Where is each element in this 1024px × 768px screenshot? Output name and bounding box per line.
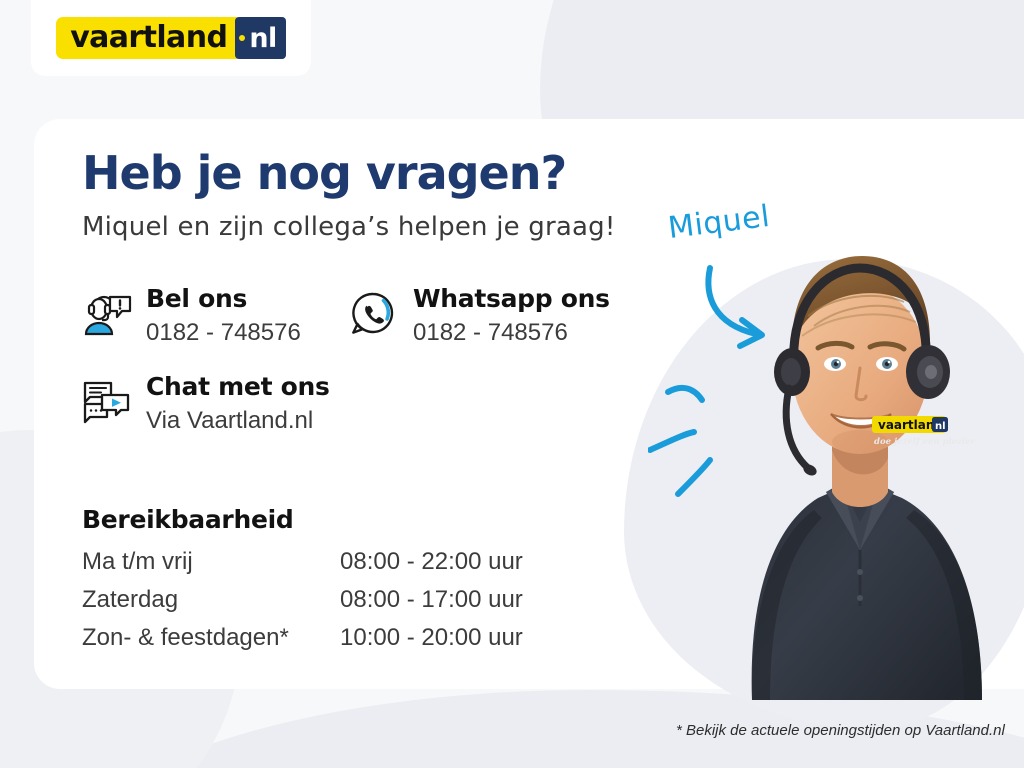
- contact-text-call: Bel ons 0182 - 748576: [146, 285, 301, 348]
- svg-text:nl: nl: [935, 421, 946, 432]
- contact-text-whatsapp: Whatsapp ons 0182 - 748576: [413, 285, 610, 348]
- logo-tld: nl: [249, 25, 276, 52]
- headset-person-alert-icon: [80, 287, 132, 339]
- logo-lockup: vaartland nl: [56, 17, 286, 59]
- contact-value-whatsapp: 0182 - 748576: [413, 317, 610, 348]
- logo-navy-plate: nl: [235, 17, 285, 59]
- availability-hours: 10:00 - 20:00 uur: [340, 624, 523, 662]
- table-row: Zaterdag 08:00 - 17:00 uur: [82, 586, 523, 624]
- speed-lines-icon: [648, 362, 758, 502]
- brand-logo[interactable]: vaartland nl: [31, 0, 311, 76]
- availability-day: Ma t/m vrij: [82, 548, 340, 586]
- svg-text:doe jezelf een plezier: doe jezelf een plezier: [874, 437, 976, 447]
- page-title: Heb je nog vragen?: [82, 150, 566, 196]
- logo-wordmark: vaartland: [70, 23, 227, 53]
- footnote-text: * Bekijk de actuele openingstijden op Va…: [676, 722, 1005, 739]
- logo-dot-icon: [239, 35, 245, 41]
- contact-text-chat: Chat met ons Via Vaartland.nl: [146, 373, 330, 436]
- contact-title-chat: Chat met ons: [146, 373, 330, 402]
- chat-bubbles-send-icon: [80, 375, 132, 427]
- availability-title: Bereikbaarheid: [82, 505, 293, 534]
- contact-item-whatsapp[interactable]: Whatsapp ons 0182 - 748576: [347, 285, 610, 348]
- contact-title-whatsapp: Whatsapp ons: [413, 285, 610, 314]
- availability-table: Ma t/m vrij 08:00 - 22:00 uur Zaterdag 0…: [82, 548, 523, 661]
- table-row: Zon- & feestdagen* 10:00 - 20:00 uur: [82, 624, 523, 662]
- availability-hours: 08:00 - 22:00 uur: [340, 548, 523, 586]
- curved-arrow-right-icon: [700, 262, 810, 352]
- logo-yellow-plate: vaartland: [56, 17, 237, 59]
- contact-item-chat[interactable]: Chat met ons Via Vaartland.nl: [80, 373, 330, 436]
- availability-day: Zaterdag: [82, 586, 340, 624]
- contact-item-call[interactable]: Bel ons 0182 - 748576: [80, 285, 301, 348]
- availability-hours: 08:00 - 17:00 uur: [340, 586, 523, 624]
- whatsapp-phone-bubble-icon: [347, 287, 399, 339]
- contact-value-chat: Via Vaartland.nl: [146, 405, 330, 436]
- promo-banner: vaartland nl Heb je nog vragen? Miquel e…: [0, 0, 1024, 768]
- page-subtitle: Miquel en zijn collega’s helpen je graag…: [82, 212, 615, 243]
- contact-value-call: 0182 - 748576: [146, 317, 301, 348]
- contact-title-call: Bel ons: [146, 285, 301, 314]
- availability-day: Zon- & feestdagen*: [82, 624, 340, 662]
- table-row: Ma t/m vrij 08:00 - 22:00 uur: [82, 548, 523, 586]
